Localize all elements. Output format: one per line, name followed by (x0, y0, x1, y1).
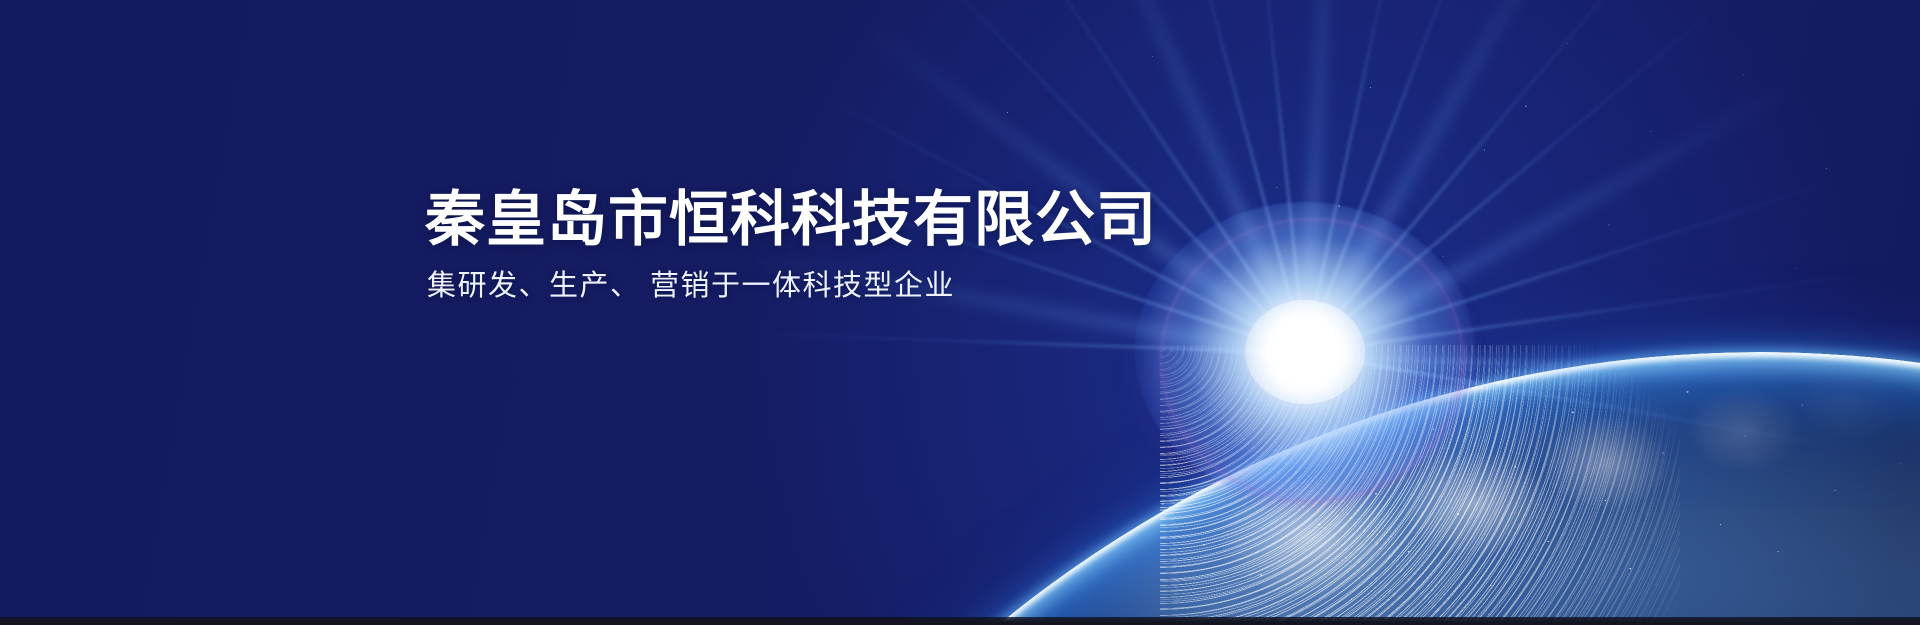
page-subtitle: 集研发、生产、 营销于一体科技型企业 (427, 269, 1157, 304)
hero-banner: 秦皇岛市恒科科技有限公司 集研发、生产、 营销于一体科技型企业 (0, 0, 1920, 625)
banner-copy: 秦皇岛市恒科科技有限公司 集研发、生产、 营销于一体科技型企业 (425, 188, 1157, 304)
bottom-trim (0, 617, 1920, 625)
page-title: 秦皇岛市恒科科技有限公司 (425, 188, 1157, 253)
